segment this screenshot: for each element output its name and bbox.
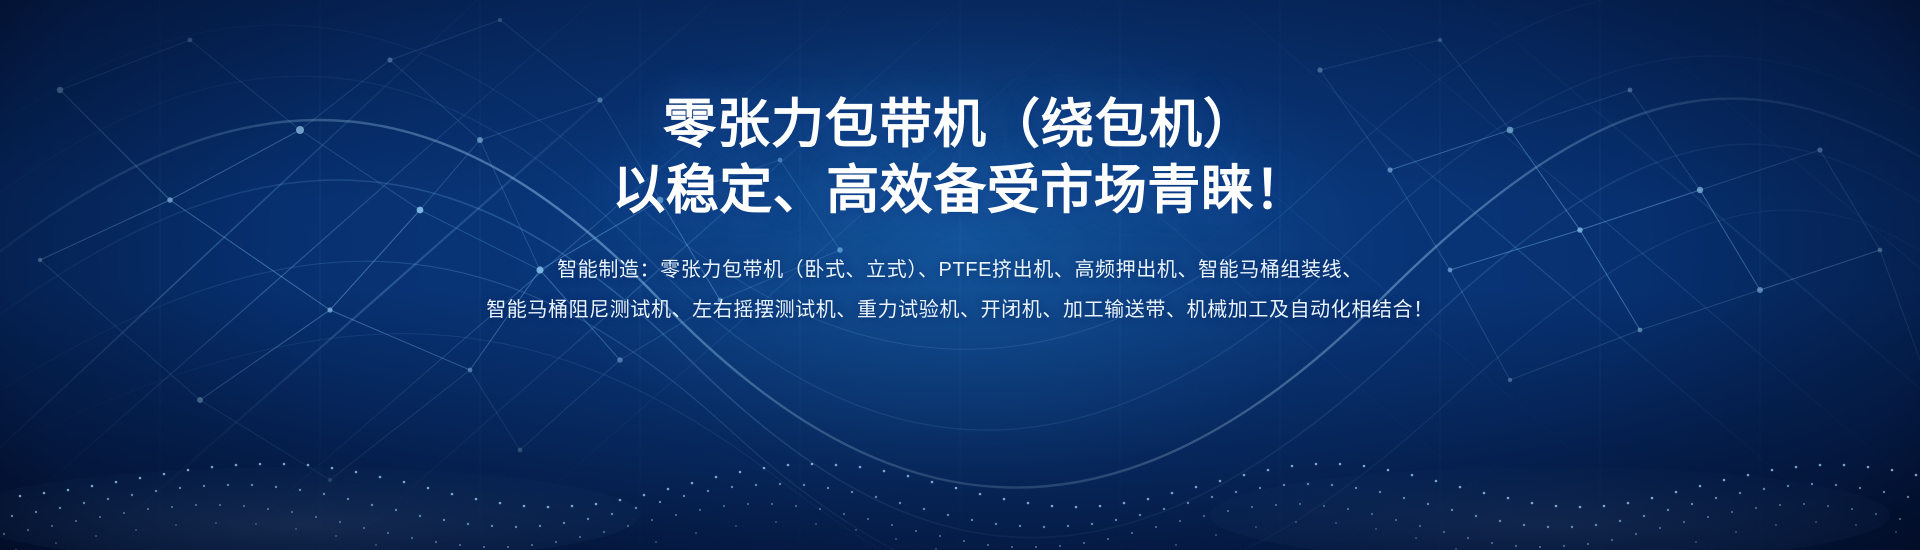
banner-title-line-2: 以稳定、高效备受市场青睐！: [0, 158, 1920, 224]
hero-banner: 零张力包带机（绕包机） 以稳定、高效备受市场青睐！ 智能制造：零张力包带机（卧式…: [0, 0, 1920, 550]
banner-subtitle-line-2: 智能马桶阻尼测试机、左右摇摆测试机、重力试验机、开闭机、加工输送带、机械加工及自…: [0, 290, 1920, 330]
banner-subtitle-line-1: 智能制造：零张力包带机（卧式、立式）、PTFE挤出机、高频押出机、智能马桶组装线…: [0, 250, 1920, 290]
banner-title-line-1: 零张力包带机（绕包机）: [0, 92, 1920, 158]
banner-content: 零张力包带机（绕包机） 以稳定、高效备受市场青睐！ 智能制造：零张力包带机（卧式…: [0, 92, 1920, 330]
dotted-wave-layer: [0, 300, 1920, 550]
banner-subtitle-block: 智能制造：零张力包带机（卧式、立式）、PTFE挤出机、高频押出机、智能马桶组装线…: [0, 250, 1920, 330]
